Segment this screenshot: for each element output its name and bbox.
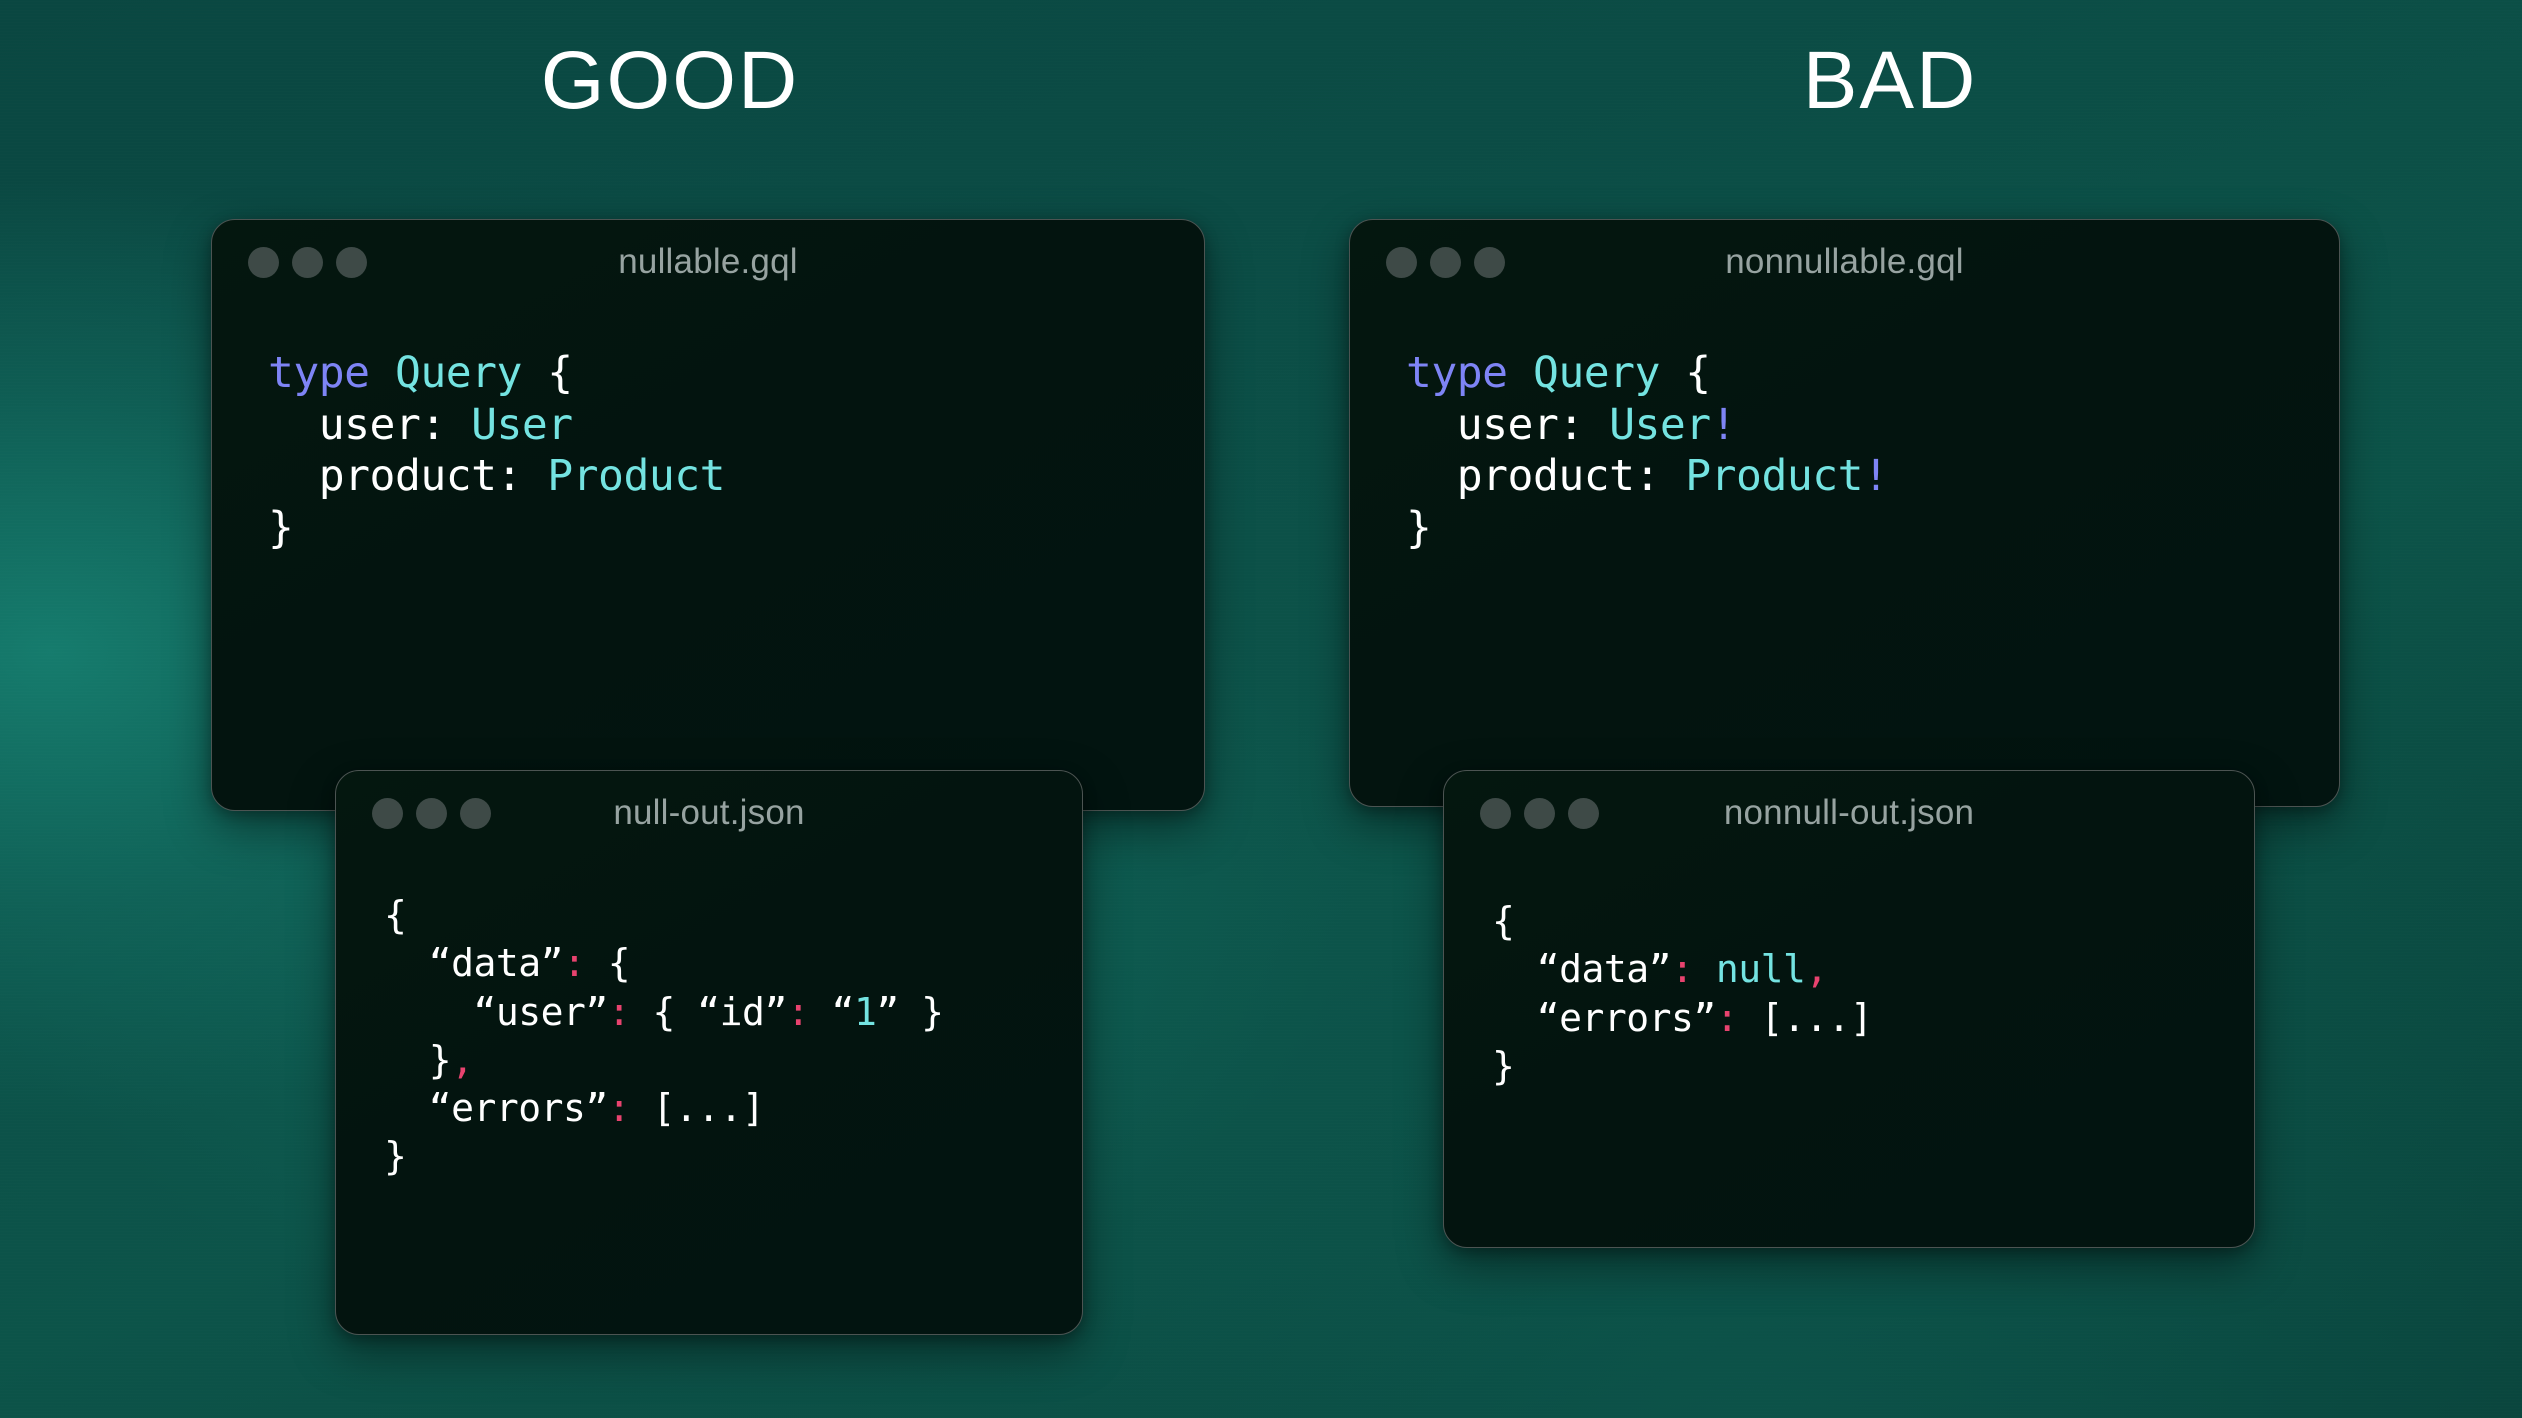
code-line: }, [384, 1036, 1082, 1084]
minimize-dot-icon[interactable] [292, 247, 323, 278]
minimize-dot-icon[interactable] [1430, 247, 1461, 278]
code-block: type Query { user: User product: Product… [268, 348, 1204, 554]
code-line: user: User [268, 400, 1204, 452]
code-body: type Query { user: User product: Product… [212, 304, 1204, 554]
window-titlebar: nonnullable.gql [1350, 220, 2339, 304]
window-titlebar: nonnull-out.json [1444, 771, 2254, 855]
close-dot-icon[interactable] [1386, 247, 1417, 278]
window-titlebar: nullable.gql [212, 220, 1204, 304]
code-line: { [384, 891, 1082, 939]
heading-bad: BAD [1340, 36, 2440, 126]
traffic-lights [372, 798, 491, 829]
code-block: { “data”: { “user”: { “id”: “1” } }, “er… [384, 891, 1082, 1181]
code-window-nonnull-out-json: nonnull-out.json { “data”: null, “errors… [1443, 770, 2255, 1248]
code-line: product: Product [268, 451, 1204, 503]
code-line: “data”: { [384, 939, 1082, 987]
code-block: { “data”: null, “errors”: [...]} [1492, 897, 2254, 1090]
code-window-nullable-gql: nullable.gql type Query { user: User pro… [211, 219, 1205, 811]
code-line: product: Product! [1406, 451, 2339, 503]
code-line: } [384, 1132, 1082, 1180]
code-line: “data”: null, [1492, 945, 2254, 993]
maximize-dot-icon[interactable] [1474, 247, 1505, 278]
traffic-lights [1480, 798, 1599, 829]
code-window-nonnullable-gql: nonnullable.gql type Query { user: User!… [1349, 219, 2340, 807]
code-body: { “data”: null, “errors”: [...]} [1444, 855, 2254, 1090]
code-line: “errors”: [...] [384, 1084, 1082, 1132]
maximize-dot-icon[interactable] [460, 798, 491, 829]
code-line: type Query { [1406, 348, 2339, 400]
code-line: “errors”: [...] [1492, 994, 2254, 1042]
minimize-dot-icon[interactable] [1524, 798, 1555, 829]
minimize-dot-icon[interactable] [416, 798, 447, 829]
code-block: type Query { user: User! product: Produc… [1406, 348, 2339, 554]
traffic-lights [1386, 247, 1505, 278]
traffic-lights [248, 247, 367, 278]
maximize-dot-icon[interactable] [336, 247, 367, 278]
close-dot-icon[interactable] [1480, 798, 1511, 829]
code-line: } [1492, 1042, 2254, 1090]
heading-good: GOOD [0, 36, 1340, 126]
code-line: } [268, 503, 1204, 555]
code-line: “user”: { “id”: “1” } [384, 988, 1082, 1036]
code-window-null-out-json: null-out.json { “data”: { “user”: { “id”… [335, 770, 1083, 1335]
window-titlebar: null-out.json [336, 771, 1082, 855]
close-dot-icon[interactable] [248, 247, 279, 278]
close-dot-icon[interactable] [372, 798, 403, 829]
code-line: { [1492, 897, 2254, 945]
code-line: type Query { [268, 348, 1204, 400]
code-body: { “data”: { “user”: { “id”: “1” } }, “er… [336, 855, 1082, 1181]
code-body: type Query { user: User! product: Produc… [1350, 304, 2339, 554]
maximize-dot-icon[interactable] [1568, 798, 1599, 829]
code-line: } [1406, 503, 2339, 555]
code-line: user: User! [1406, 400, 2339, 452]
